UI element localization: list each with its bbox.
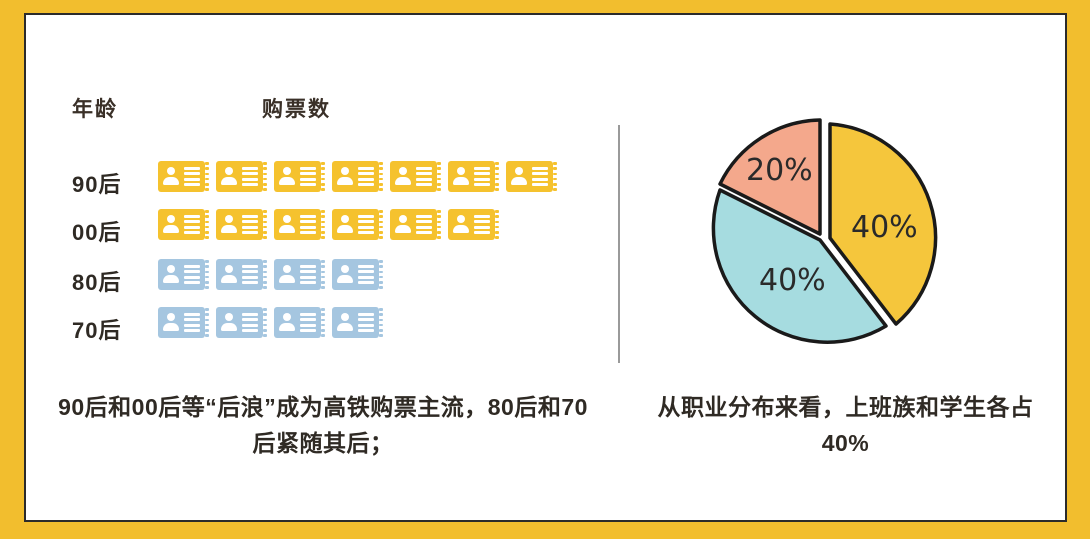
ticket-perforation xyxy=(205,162,209,191)
pie-chart-svg xyxy=(681,108,961,368)
ticket-perforation xyxy=(553,162,557,191)
ticket-id-card-icon xyxy=(332,307,383,338)
ticket-id-card-icon xyxy=(332,259,383,290)
ticket-person-head-icon xyxy=(457,167,465,175)
ticket-person-head-icon xyxy=(167,215,175,223)
ticket-text-lines-icon xyxy=(300,313,316,332)
ticket-person-body-icon xyxy=(279,275,295,283)
ticket-person-head-icon xyxy=(283,167,291,175)
ticket-person-body-icon xyxy=(279,323,295,331)
ticket-perforation xyxy=(321,162,325,191)
ticket-id-card-icon xyxy=(274,307,325,338)
ticket-text-lines-icon xyxy=(358,313,374,332)
ticket-text-lines-icon xyxy=(474,215,490,234)
ticket-person-body-icon xyxy=(163,323,179,331)
ticket-id-card-icon xyxy=(158,307,209,338)
ticket-person-head-icon xyxy=(283,313,291,321)
ticket-perforation xyxy=(379,210,383,239)
ticket-id-card-icon xyxy=(448,209,499,240)
pie-label-yellow: 40% xyxy=(851,210,918,245)
ticket-text-lines-icon xyxy=(358,265,374,284)
ticket-text-lines-icon xyxy=(242,167,258,186)
ticket-person-head-icon xyxy=(341,167,349,175)
ticket-person-head-icon xyxy=(341,215,349,223)
ticket-person-head-icon xyxy=(283,265,291,273)
ticket-person-head-icon xyxy=(225,313,233,321)
occupation-pie-panel: 40% 40% 20% 从职业分布来看，上班族和学生各占40% xyxy=(627,16,1064,519)
pictograph-row: 90后 xyxy=(27,158,619,202)
ticket-text-lines-icon xyxy=(184,215,200,234)
ticket-perforation xyxy=(321,308,325,337)
ticket-person-head-icon xyxy=(167,167,175,175)
ticket-perforation xyxy=(263,260,267,289)
ticket-person-head-icon xyxy=(399,167,407,175)
pictograph-row-label: 70后 xyxy=(72,313,168,345)
ticket-text-lines-icon xyxy=(416,215,432,234)
ticket-person-body-icon xyxy=(337,275,353,283)
ticket-text-lines-icon xyxy=(242,265,258,284)
ticket-person-body-icon xyxy=(395,177,411,185)
ticket-id-card-icon xyxy=(506,161,557,192)
pie-label-cyan: 40% xyxy=(759,263,826,298)
ticket-id-card-icon xyxy=(216,209,267,240)
ticket-person-head-icon xyxy=(515,167,523,175)
ticket-text-lines-icon xyxy=(358,215,374,234)
pictograph-row: 70后 xyxy=(27,304,619,348)
ticket-id-card-icon xyxy=(332,209,383,240)
ticket-person-body-icon xyxy=(221,275,237,283)
ticket-perforation xyxy=(263,210,267,239)
ticket-perforation xyxy=(263,162,267,191)
ticket-perforation xyxy=(379,260,383,289)
ticket-id-card-icon xyxy=(216,161,267,192)
pictograph-row-label: 80后 xyxy=(72,265,168,297)
ticket-person-body-icon xyxy=(337,323,353,331)
ticket-text-lines-icon xyxy=(242,313,258,332)
ticket-id-card-icon xyxy=(274,209,325,240)
ticket-person-body-icon xyxy=(337,177,353,185)
ticket-text-lines-icon xyxy=(184,265,200,284)
ticket-person-body-icon xyxy=(395,225,411,233)
ticket-perforation xyxy=(379,162,383,191)
ticket-text-lines-icon xyxy=(184,167,200,186)
pictograph-row-icons xyxy=(158,209,499,240)
age-pictograph-panel: 年龄 购票数 90后 00后 80后 70后 90后和00后等“后浪”成为高铁购… xyxy=(27,16,619,519)
pictograph-row: 80后 xyxy=(27,256,619,300)
ticket-person-body-icon xyxy=(279,225,295,233)
ticket-text-lines-icon xyxy=(532,167,548,186)
ticket-person-body-icon xyxy=(163,225,179,233)
ticket-person-body-icon xyxy=(221,323,237,331)
ticket-id-card-icon xyxy=(390,209,441,240)
ticket-id-card-icon xyxy=(332,161,383,192)
ticket-id-card-icon xyxy=(216,307,267,338)
ticket-text-lines-icon xyxy=(474,167,490,186)
ticket-person-body-icon xyxy=(337,225,353,233)
section-divider xyxy=(618,125,620,363)
ticket-text-lines-icon xyxy=(300,265,316,284)
content-canvas: 年龄 购票数 90后 00后 80后 70后 90后和00后等“后浪”成为高铁购… xyxy=(27,16,1064,519)
ticket-person-body-icon xyxy=(453,225,469,233)
ticket-id-card-icon xyxy=(274,161,325,192)
left-caption-text: 90后和00后等“后浪”成为高铁购票主流，80后和70后紧随其后； xyxy=(47,389,599,461)
ticket-id-card-icon xyxy=(158,161,209,192)
ticket-id-card-icon xyxy=(158,209,209,240)
ticket-perforation xyxy=(321,260,325,289)
ticket-perforation xyxy=(205,308,209,337)
pie-chart: 40% 40% 20% xyxy=(681,108,961,368)
ticket-person-head-icon xyxy=(341,313,349,321)
infographic-page: 年龄 购票数 90后 00后 80后 70后 90后和00后等“后浪”成为高铁购… xyxy=(0,0,1090,539)
ticket-text-lines-icon xyxy=(242,215,258,234)
pictograph-row-icons xyxy=(158,259,383,290)
ticket-person-head-icon xyxy=(283,215,291,223)
ticket-perforation xyxy=(437,162,441,191)
ticket-person-head-icon xyxy=(341,265,349,273)
ticket-id-card-icon xyxy=(390,161,441,192)
ticket-person-body-icon xyxy=(163,275,179,283)
ticket-text-lines-icon xyxy=(300,215,316,234)
ticket-perforation xyxy=(437,210,441,239)
ticket-person-head-icon xyxy=(457,215,465,223)
ticket-id-card-icon xyxy=(158,259,209,290)
ticket-person-head-icon xyxy=(225,215,233,223)
pie-label-salmon: 20% xyxy=(746,153,813,188)
ticket-person-head-icon xyxy=(225,167,233,175)
ticket-person-body-icon xyxy=(221,225,237,233)
pictograph-row-label: 00后 xyxy=(72,215,168,247)
ticket-text-lines-icon xyxy=(184,313,200,332)
column-header-ticket-count: 购票数 xyxy=(262,93,331,123)
ticket-perforation xyxy=(495,210,499,239)
right-caption-text: 从职业分布来看，上班族和学生各占40% xyxy=(647,389,1044,461)
pictograph-row-icons xyxy=(158,161,557,192)
ticket-text-lines-icon xyxy=(358,167,374,186)
ticket-person-head-icon xyxy=(399,215,407,223)
pictograph-row-label: 90后 xyxy=(72,167,168,199)
ticket-perforation xyxy=(263,308,267,337)
ticket-id-card-icon xyxy=(216,259,267,290)
ticket-perforation xyxy=(205,260,209,289)
ticket-person-body-icon xyxy=(163,177,179,185)
column-header-age: 年龄 xyxy=(72,93,118,123)
ticket-person-body-icon xyxy=(279,177,295,185)
ticket-perforation xyxy=(205,210,209,239)
ticket-person-body-icon xyxy=(511,177,527,185)
ticket-person-head-icon xyxy=(225,265,233,273)
ticket-person-body-icon xyxy=(453,177,469,185)
ticket-person-head-icon xyxy=(167,265,175,273)
ticket-perforation xyxy=(379,308,383,337)
ticket-id-card-icon xyxy=(448,161,499,192)
pictograph-row-icons xyxy=(158,307,383,338)
ticket-text-lines-icon xyxy=(300,167,316,186)
ticket-text-lines-icon xyxy=(416,167,432,186)
ticket-perforation xyxy=(495,162,499,191)
ticket-person-body-icon xyxy=(221,177,237,185)
pictograph-row: 00后 xyxy=(27,206,619,250)
ticket-person-head-icon xyxy=(167,313,175,321)
ticket-id-card-icon xyxy=(274,259,325,290)
ticket-perforation xyxy=(321,210,325,239)
